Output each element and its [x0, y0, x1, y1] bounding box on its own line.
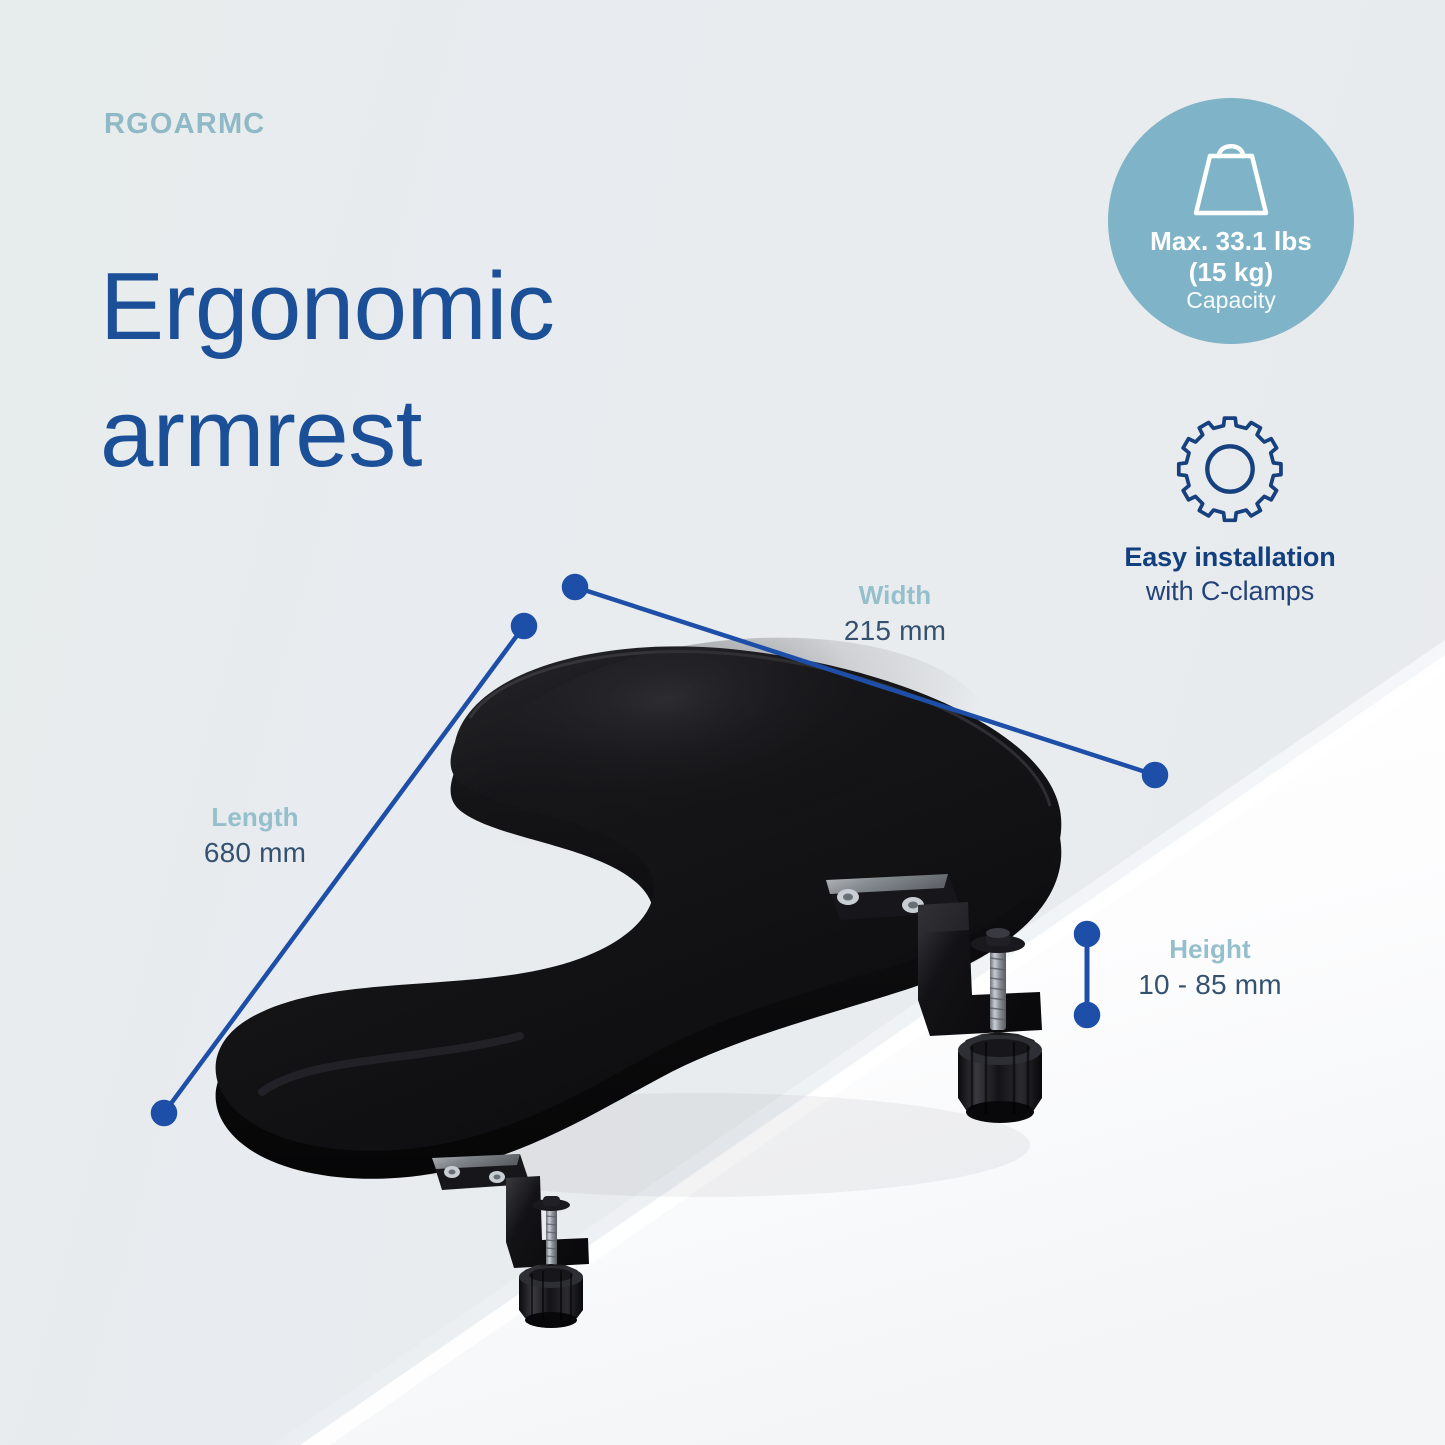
capacity-line-1: Max. 33.1 lbs	[1150, 226, 1312, 257]
title-line-2: armrest	[100, 371, 800, 498]
capacity-text: Max. 33.1 lbs (15 kg) Capacity	[1150, 226, 1312, 314]
length-value: 680 mm	[150, 835, 360, 870]
length-name: Length	[150, 800, 360, 835]
weight-icon	[1186, 128, 1276, 220]
install-subtitle: with C-clamps	[1060, 574, 1400, 609]
page-title: Ergonomic armrest	[100, 244, 800, 497]
clamp-knob-front	[519, 1264, 583, 1328]
width-name: Width	[790, 578, 1000, 613]
capacity-line-3: Capacity	[1150, 287, 1312, 314]
install-feature: Easy installation with C-clamps	[1060, 415, 1400, 609]
capacity-badge: Max. 33.1 lbs (15 kg) Capacity	[1108, 98, 1354, 344]
dimension-label-width: Width 215 mm	[790, 578, 1000, 648]
height-value: 10 - 85 mm	[1095, 967, 1325, 1002]
dimension-label-length: Length 680 mm	[150, 800, 360, 870]
install-title: Easy installation	[1060, 541, 1400, 574]
capacity-line-2: (15 kg)	[1150, 257, 1312, 288]
product-sku: RGOARMC	[104, 108, 265, 141]
clamp-knob-rear	[958, 1032, 1042, 1123]
gear-icon	[1176, 415, 1284, 523]
height-name: Height	[1095, 932, 1325, 967]
width-value: 215 mm	[790, 613, 1000, 648]
dimension-label-height: Height 10 - 85 mm	[1095, 932, 1325, 1002]
title-line-1: Ergonomic	[100, 244, 800, 371]
product-infographic: RGOARMC Ergonomic armrest Max. 33.1 lbs …	[0, 0, 1445, 1445]
